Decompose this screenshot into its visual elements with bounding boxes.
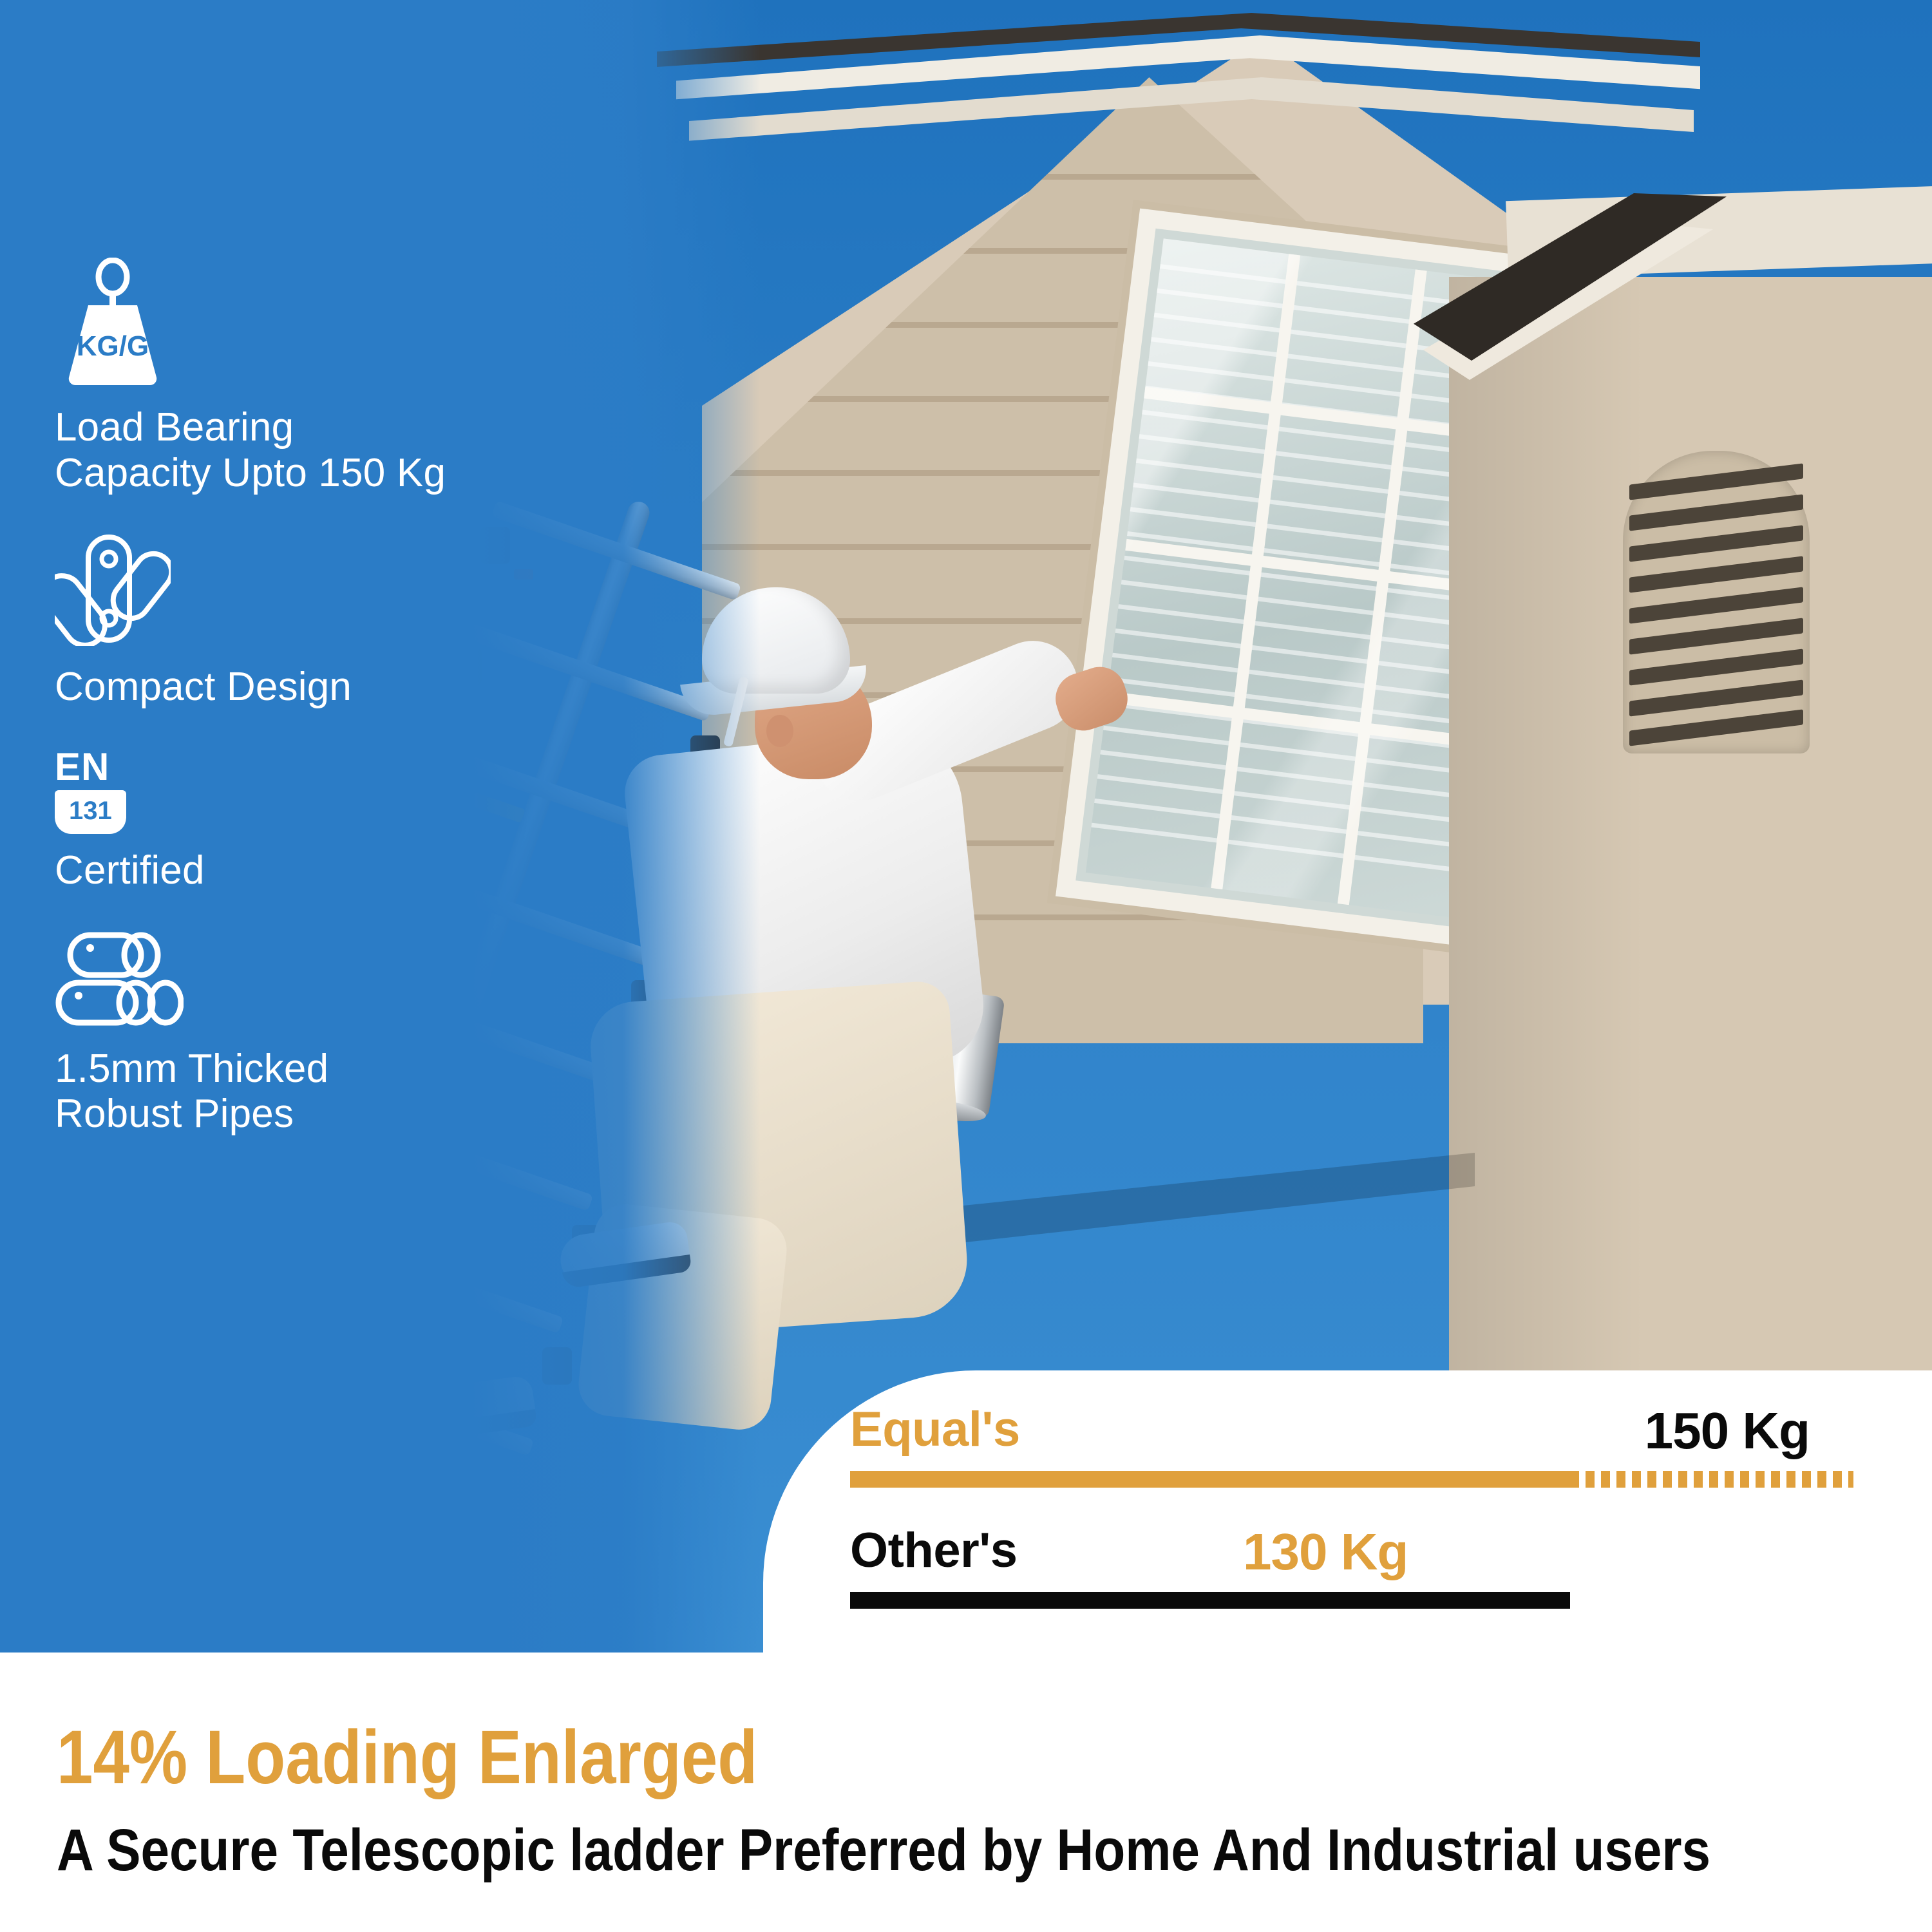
footer-headline: 14% Loading Enlarged (57, 1714, 757, 1801)
series-name: Other's (850, 1522, 1018, 1578)
footer-text-block: 14% Loading Enlarged A Secure Telescopic… (0, 1653, 1932, 1932)
feature-compact-design: Compact Design (55, 533, 544, 710)
feature-robust-pipes: 1.5mm Thicked Robust Pipes (55, 931, 544, 1137)
series-name: Equal's (850, 1401, 1020, 1457)
weight-kg-icon: KG/G (55, 258, 544, 390)
folding-hinge-icon (55, 533, 544, 649)
feature-en131-certified: EN 131 Certified (55, 748, 544, 894)
bar-equals-solid (850, 1471, 1570, 1488)
series-value-label: 130 Kg (1243, 1522, 1408, 1582)
en131-badge-icon: EN 131 (55, 748, 544, 834)
bar-others-solid (850, 1592, 1570, 1609)
feature-list: KG/G Load Bearing Capacity Upto 150 Kg (55, 258, 544, 1175)
hero-photo: KG/G Load Bearing Capacity Upto 150 Kg (0, 0, 1932, 1653)
series-value-label: 150 Kg (1645, 1401, 1810, 1461)
bar-equals-dashed (1570, 1471, 1853, 1488)
feature-label: Compact Design (55, 665, 544, 710)
weight-icon-label: KG/G (77, 330, 149, 362)
feature-label: 1.5mm Thicked Robust Pipes (55, 1046, 544, 1137)
stacked-pipes-icon (55, 931, 544, 1031)
footer-subline: A Secure Telescopic ladder Preferred by … (57, 1817, 1710, 1884)
gable-vent-icon (1623, 451, 1810, 753)
feature-load-bearing: KG/G Load Bearing Capacity Upto 150 Kg (55, 258, 544, 496)
comparison-card: Equal's 150 Kg Other's 130 Kg (763, 1370, 1932, 1653)
feature-label: Certified (55, 848, 544, 894)
feature-label: Load Bearing Capacity Upto 150 Kg (55, 405, 544, 496)
worker-ear (766, 715, 793, 747)
en131-badge-top: EN (55, 748, 109, 786)
product-feature-banner: KG/G Load Bearing Capacity Upto 150 Kg (0, 0, 1932, 1932)
en131-badge-bottom: 131 (55, 790, 126, 834)
